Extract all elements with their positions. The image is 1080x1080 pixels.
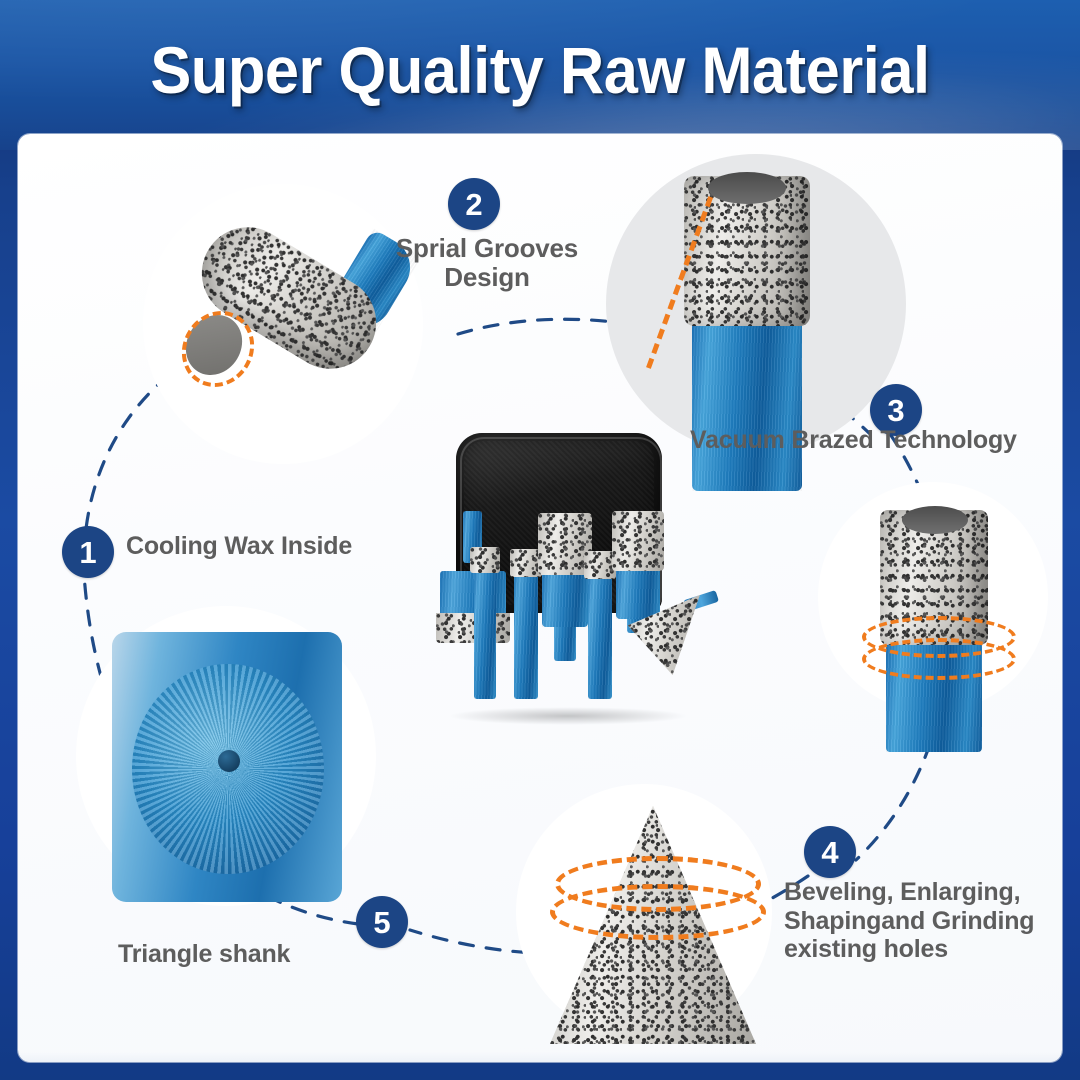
brazed-joint-closeup-photo [818, 482, 1058, 752]
callout-badge-1-number: 1 [79, 537, 96, 568]
callout-badge-1[interactable]: 1 [62, 526, 114, 578]
core-bit-medium [542, 513, 588, 661]
callout-label-2: Sprial Grooves Design [382, 234, 592, 292]
callout-badge-4-number: 4 [821, 837, 838, 868]
bit-bore-hole [902, 506, 968, 534]
callout-label-4: Beveling, Enlarging, Shapingand Grinding… [784, 878, 1060, 964]
header: Super Quality Raw Material [0, 0, 1080, 140]
diamond-cone-bit-photo [510, 784, 800, 1062]
callout-badge-5-number: 5 [373, 907, 390, 938]
core-bit-slim-3 [588, 551, 612, 699]
infographic-root: Super Quality Raw Material [0, 0, 1080, 1080]
page-title: Super Quality Raw Material [150, 37, 929, 103]
kit-shadow [448, 707, 688, 725]
callout-badge-2-number: 2 [465, 189, 482, 220]
callout-label-3: Vacuum Brazed Technology [690, 426, 1017, 454]
core-bit-slim-2 [514, 549, 538, 699]
bit-bore-hole [708, 172, 786, 204]
cone-highlight-ring-lower [550, 884, 766, 940]
shank-center-dimple [218, 750, 240, 772]
diamond-hole-saw-kit-with-case [418, 419, 718, 719]
drill-bit-tip-cooling-wax-photo [123, 174, 453, 474]
core-bit-slim-1 [474, 547, 496, 699]
brazed-bond-highlight-ring-lower [862, 638, 1016, 680]
triangle-shank-endface-photo [66, 602, 406, 922]
callout-badge-5[interactable]: 5 [356, 896, 408, 948]
callout-badge-3-number: 3 [887, 395, 904, 426]
content-panel: 1 2 3 4 5 Cooling Wax Inside Sprial Groo… [18, 134, 1062, 1062]
callout-label-5: Triangle shank [118, 940, 290, 968]
callout-badge-4[interactable]: 4 [804, 826, 856, 878]
callout-badge-2[interactable]: 2 [448, 178, 500, 230]
callout-label-1: Cooling Wax Inside [126, 532, 352, 560]
